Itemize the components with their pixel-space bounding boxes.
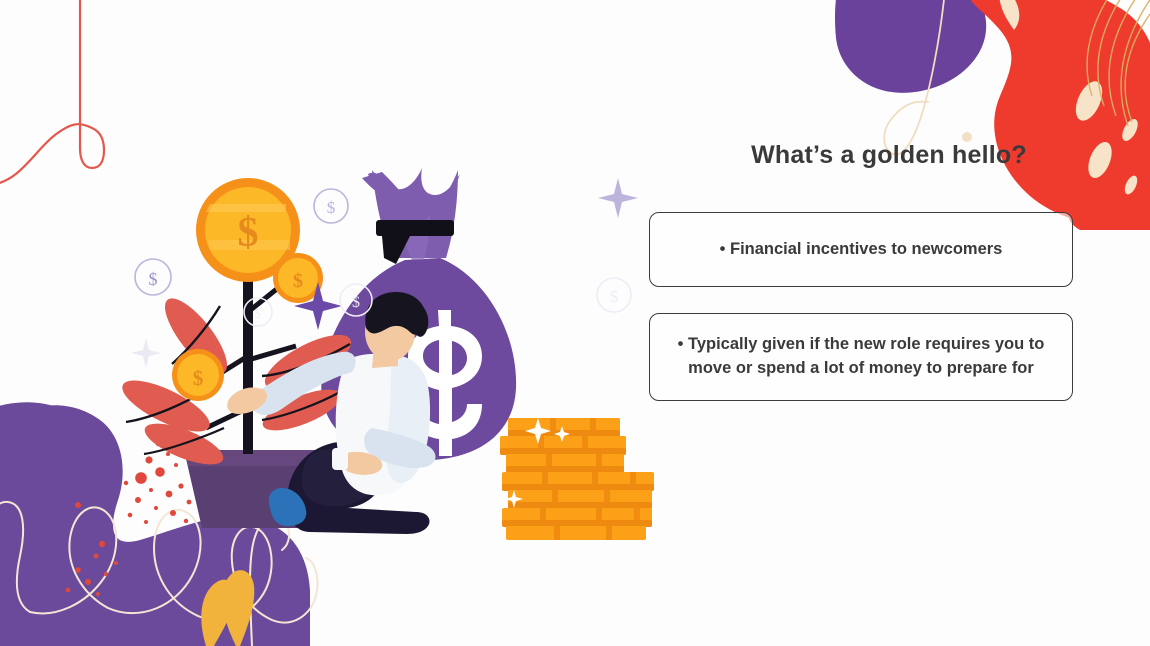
content-column: What’s a golden hello? • Financial incen…: [640, 140, 1090, 401]
dollar-badge-glyph: $: [610, 287, 619, 306]
dollar-badge-glyph: $: [327, 198, 336, 217]
plant-coin-small: $: [172, 349, 224, 401]
bullet-box-1[interactable]: • Financial incentives to newcomers: [649, 212, 1073, 287]
bullet-text-2: • Typically given if the new role requir…: [672, 333, 1050, 381]
slide-canvas: $ $ $: [0, 0, 1150, 646]
svg-text:$: $: [193, 366, 204, 390]
svg-text:$: $: [293, 270, 303, 292]
purple-blob-top-right: [835, 0, 986, 93]
svg-text:$: $: [238, 210, 259, 256]
bullet-text-1: • Financial incentives to newcomers: [720, 238, 1003, 262]
dollar-badge-glyph: $: [352, 294, 360, 311]
dollar-badge-glyph: $: [149, 269, 158, 289]
money-growth-illustration: $ $ $: [110, 160, 680, 560]
bullet-box-2[interactable]: • Typically given if the new role requir…: [649, 313, 1073, 401]
sparkle-star-lavender: [598, 178, 638, 218]
stacked-gold-coins: [500, 418, 654, 540]
dollar-badge-glyph: $: [255, 307, 262, 322]
sparkle-star-faint: [131, 338, 161, 368]
red-wavy-line-icon: [0, 0, 104, 185]
page-title: What’s a golden hello?: [640, 140, 1090, 170]
